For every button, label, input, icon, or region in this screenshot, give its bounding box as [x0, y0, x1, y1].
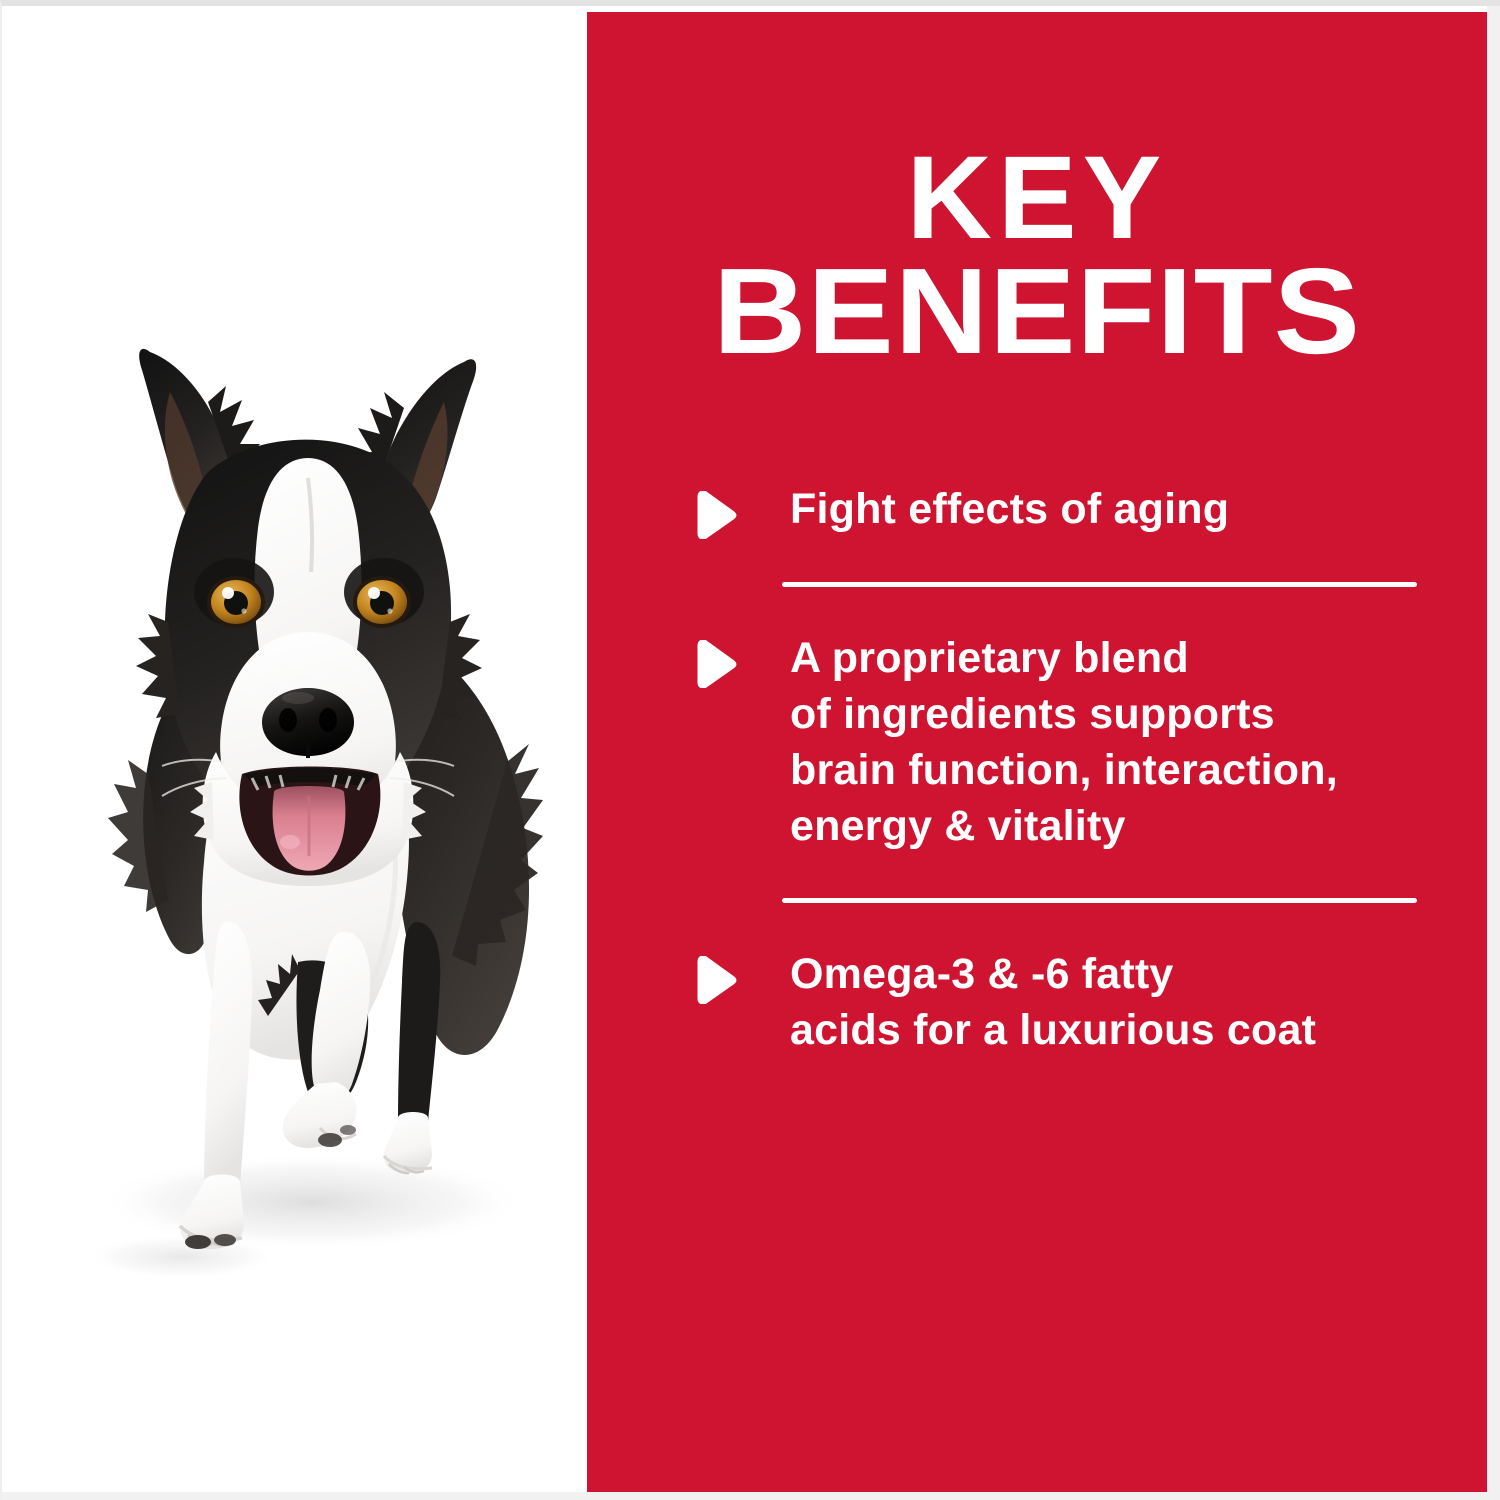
- benefits-list: Fight effects of aging A proprietary ble…: [587, 482, 1487, 1059]
- title-line-key: KEY: [587, 142, 1487, 254]
- dog-leg-black-right: [384, 922, 441, 1173]
- key-benefits-panel: KEY BENEFITS Fight effects of aging A pr…: [587, 12, 1487, 1500]
- benefit-text: A proprietary blend of ingredients suppo…: [790, 631, 1338, 855]
- benefit-item-omega-coat: Omega-3 & -6 fatty acids for a luxurious…: [587, 947, 1487, 1059]
- play-triangle-icon: [692, 640, 738, 688]
- right-edge-border: [1487, 6, 1500, 1500]
- play-triangle-icon: [692, 956, 738, 1004]
- dog-eye-left: [207, 576, 265, 628]
- benefits-divider-2: [782, 898, 1417, 903]
- play-triangle-icon: [692, 491, 738, 539]
- floor-shadow-2: [87, 1235, 277, 1279]
- dog-eye-right: [353, 576, 411, 628]
- border-collie-dog-illustration: [12, 322, 582, 1302]
- page-title: KEY BENEFITS: [587, 142, 1487, 370]
- title-line-benefits: BENEFITS: [587, 254, 1487, 370]
- benefit-text: Fight effects of aging: [790, 482, 1229, 538]
- benefit-item-brain-blend: A proprietary blend of ingredients suppo…: [587, 631, 1487, 855]
- product-benefits-card: KEY BENEFITS Fight effects of aging A pr…: [0, 0, 1500, 1500]
- product-photo-panel: [2, 12, 587, 1500]
- bottom-edge-border: [2, 1492, 1500, 1500]
- benefit-text: Omega-3 & -6 fatty acids for a luxurious…: [790, 947, 1316, 1059]
- benefits-divider-1: [782, 582, 1417, 587]
- benefit-item-aging: Fight effects of aging: [587, 482, 1487, 538]
